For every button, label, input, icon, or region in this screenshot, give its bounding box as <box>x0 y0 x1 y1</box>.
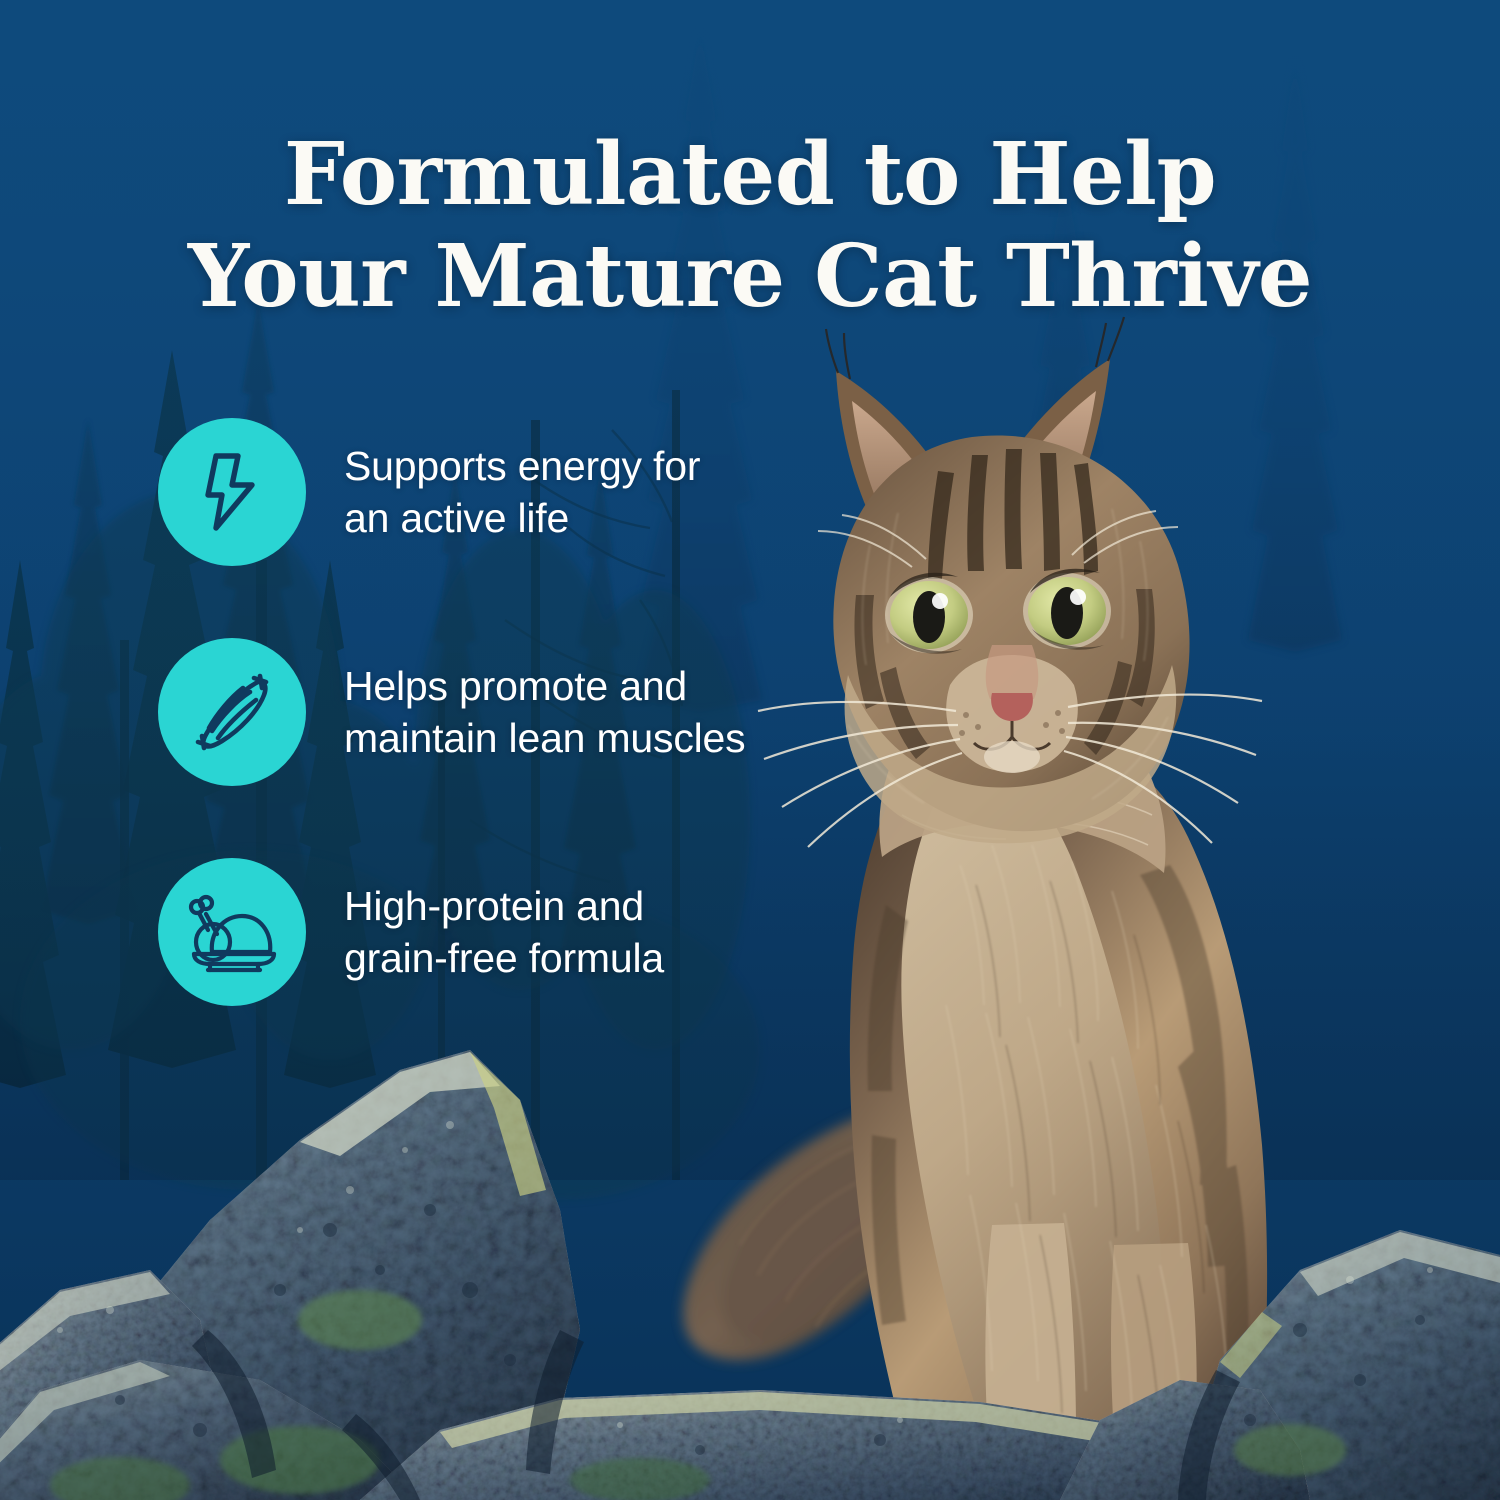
roast-poultry-platter-icon <box>186 886 278 978</box>
benefit-icon-badge-protein <box>158 858 306 1006</box>
rock-foreground <box>0 1030 1500 1500</box>
headline-line-1: Formulated to Help <box>0 124 1500 226</box>
benefit-text-protein: High-protein and grain-free formula <box>344 880 664 984</box>
benefit-text-energy: Supports energy for an active life <box>344 440 700 544</box>
benefit-item-muscle: Helps promote and maintain lean muscles <box>158 638 878 786</box>
product-feature-banner: Formulated to Help Your Mature Cat Thriv… <box>0 0 1500 1500</box>
lightning-bolt-icon <box>189 449 275 535</box>
benefit-icon-badge-energy <box>158 418 306 566</box>
benefit-item-protein: High-protein and grain-free formula <box>158 858 878 1006</box>
benefit-item-energy: Supports energy for an active life <box>158 418 878 566</box>
muscle-fiber-icon <box>188 668 276 756</box>
benefits-list: Supports energy for an active life <box>158 418 878 1006</box>
benefit-text-muscle: Helps promote and maintain lean muscles <box>344 660 745 764</box>
benefit-icon-badge-muscle <box>158 638 306 786</box>
page-title: Formulated to Help Your Mature Cat Thriv… <box>0 124 1500 328</box>
headline-line-2: Your Mature Cat Thrive <box>0 226 1500 328</box>
